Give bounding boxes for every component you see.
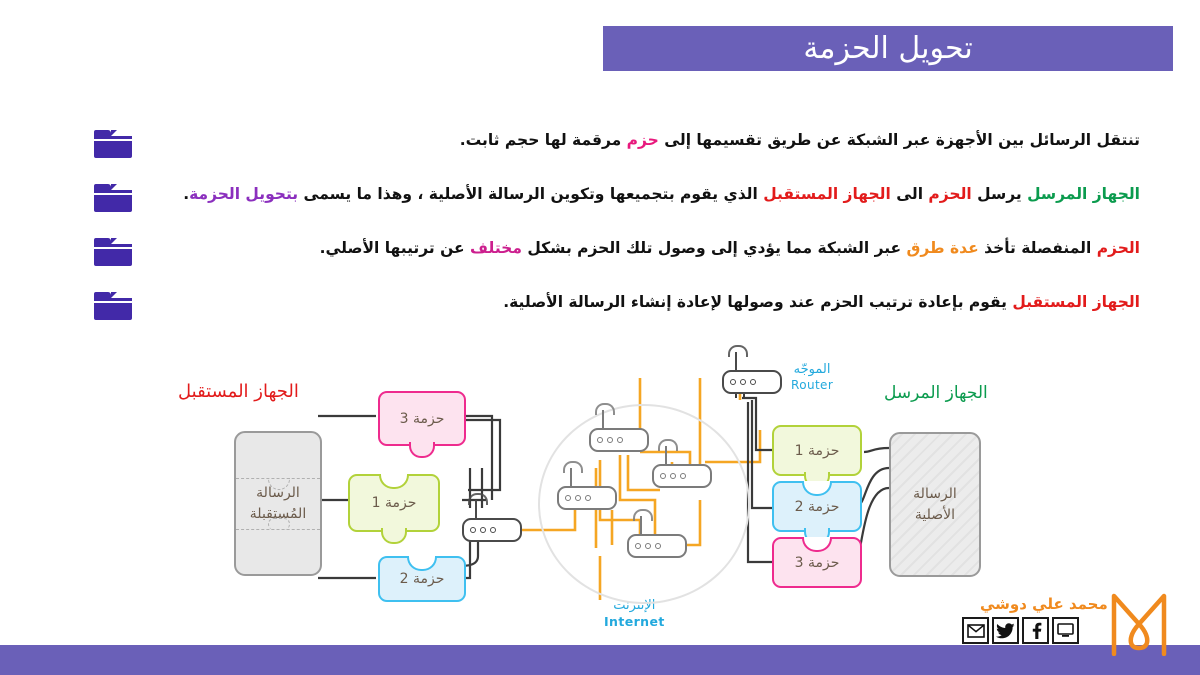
- packet-label: حزمة 3: [400, 411, 445, 427]
- seg: الذي يقوم بتجميعها وتكوين الرسالة الأصلي…: [298, 185, 763, 203]
- folder-icon: [94, 292, 132, 320]
- seg: تنتقل الرسائل بين الأجهزة عبر الشبكة عن …: [659, 131, 1140, 149]
- seg: عن ترتيبها الأصلي.: [320, 239, 470, 257]
- bullet-item: الجهاز المستقبل يقوم بإعادة ترتيب الحزم …: [80, 290, 1140, 320]
- bullet-item: تنتقل الرسائل بين الأجهزة عبر الشبكة عن …: [80, 128, 1140, 158]
- packet-right-2: حزمة 2: [772, 481, 862, 532]
- packet-right-3: حزمة 3: [772, 537, 862, 588]
- received-message-line1: الرسالة: [250, 483, 306, 503]
- seg-highlight: الحزم: [928, 185, 971, 203]
- bottom-bar: [0, 645, 1200, 675]
- packet-label: حزمة 3: [795, 555, 840, 571]
- packet-left-3: حزمة 2: [378, 556, 466, 602]
- original-message-line1: الرسالة: [913, 484, 957, 504]
- seg-highlight: بتحويل الحزمة: [189, 185, 298, 203]
- seg-highlight: حزم: [627, 131, 659, 149]
- label-router-ar: الموجّه: [791, 362, 833, 378]
- brand-logo-icon: [1108, 590, 1170, 656]
- seg: عبر الشبكة مما يؤدي إلى وصول تلك الحزم ب…: [522, 239, 907, 257]
- bullet-text-1: تنتقل الرسائل بين الأجهزة عبر الشبكة عن …: [132, 128, 1140, 152]
- seg: يرسل: [972, 185, 1027, 203]
- packet-right-1: حزمة 1: [772, 425, 862, 476]
- bullet-item: الجهاز المرسل يرسل الحزم الى الجهاز المس…: [80, 182, 1140, 212]
- title-banner: تحويل الحزمة: [603, 26, 1173, 71]
- author-name: محمد علي دوشي: [980, 595, 1108, 613]
- slide-root: تحويل الحزمة تنتقل الرسائل بين الأجهزة ع…: [0, 0, 1200, 675]
- email-icon[interactable]: [962, 617, 989, 644]
- received-message-box: الرسالة المُستقبلة: [234, 431, 322, 576]
- social-links: [962, 617, 1079, 644]
- folder-icon: [94, 130, 132, 158]
- router-cloud-4: [627, 534, 687, 558]
- page-title: تحويل الحزمة: [803, 31, 972, 66]
- seg-highlight: الحزم: [1097, 239, 1140, 257]
- packet-label: حزمة 1: [372, 495, 417, 511]
- bullet-text-2: الجهاز المرسل يرسل الحزم الى الجهاز المس…: [132, 182, 1140, 206]
- router-gateway-receiver: [462, 518, 522, 542]
- seg: الى: [891, 185, 929, 203]
- received-message-line2: المُستقبلة: [250, 504, 306, 524]
- packet-label: حزمة 2: [400, 571, 445, 587]
- packet-left-1: حزمة 3: [378, 391, 466, 446]
- bullet-text-3: الحزم المنفصلة تأخذ عدة طرق عبر الشبكة م…: [132, 236, 1140, 260]
- seg: يقوم بإعادة ترتيب الحزم عند وصولها لإعاد…: [503, 293, 1012, 311]
- seg: مرقمة لها حجم ثابت.: [460, 131, 627, 149]
- seg-highlight: عدة طرق: [907, 239, 979, 257]
- folder-icon: [94, 238, 132, 266]
- label-router-en: Router: [791, 378, 833, 393]
- label-internet-en: Internet: [604, 614, 665, 630]
- packet-label: حزمة 2: [795, 499, 840, 515]
- packet-left-2: حزمة 1: [348, 474, 440, 532]
- seg-highlight: الجهاز المستقبل: [1012, 293, 1140, 311]
- bullet-list: تنتقل الرسائل بين الأجهزة عبر الشبكة عن …: [80, 128, 1140, 344]
- router-cloud-2: [652, 464, 712, 488]
- seg-highlight: الجهاز المرسل: [1027, 185, 1140, 203]
- router-cloud-3: [557, 486, 617, 510]
- packet-label: حزمة 1: [795, 443, 840, 459]
- label-receiver: الجهاز المستقبل: [178, 381, 299, 402]
- original-message-line2: الأصلية: [913, 505, 957, 525]
- facebook-icon[interactable]: [1022, 617, 1049, 644]
- label-sender: الجهاز المرسل: [884, 383, 988, 403]
- folder-icon: [94, 184, 132, 212]
- bullet-text-4: الجهاز المستقبل يقوم بإعادة ترتيب الحزم …: [132, 290, 1140, 314]
- original-message-box: الرسالة الأصلية: [889, 432, 981, 577]
- website-icon[interactable]: [1052, 617, 1079, 644]
- twitter-icon[interactable]: [992, 617, 1019, 644]
- bullet-item: الحزم المنفصلة تأخذ عدة طرق عبر الشبكة م…: [80, 236, 1140, 266]
- seg-highlight: الجهاز المستقبل: [763, 185, 891, 203]
- label-router: الموجّه Router: [791, 362, 833, 393]
- seg: المنفصلة تأخذ: [979, 239, 1097, 257]
- seg-highlight: مختلف: [470, 239, 522, 257]
- router-gateway-sender: [722, 370, 782, 394]
- router-cloud-1: [589, 428, 649, 452]
